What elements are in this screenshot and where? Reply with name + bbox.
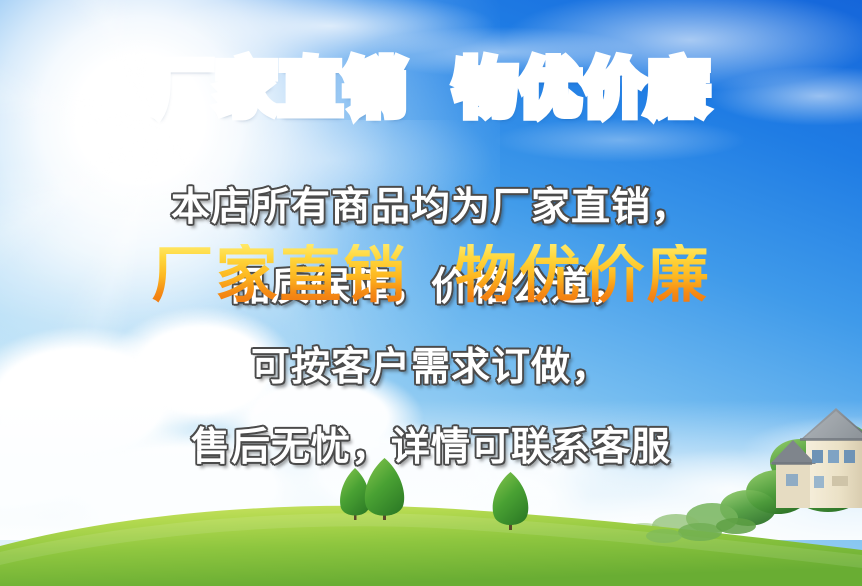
headline: 厂家直销 物优价廉 厂家直销 物优价廉: [0, 58, 862, 430]
cypress-tree-right: [493, 472, 529, 530]
headline-outline: 厂家直销 物优价廉: [0, 58, 862, 120]
promo-banner: 厂家直销 物优价廉 厂家直销 物优价廉 本店所有商品均为厂家直销， 品质保障，价…: [0, 0, 862, 586]
headline-text: 厂家直销 物优价廉: [0, 244, 862, 306]
